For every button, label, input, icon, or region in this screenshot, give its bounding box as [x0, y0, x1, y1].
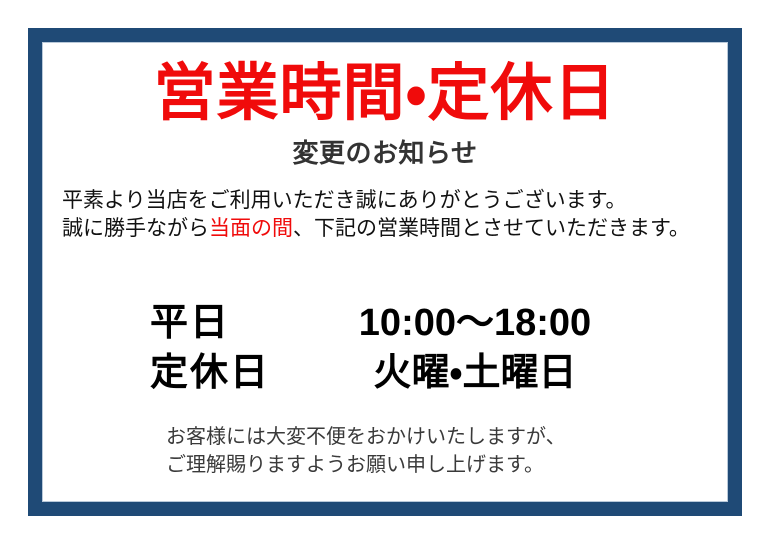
- hours-label-closed-days: 定休日: [150, 348, 330, 398]
- hours-value-closed-days: 火曜・土曜日: [330, 348, 620, 398]
- intro-emphasis-red: 当面の間: [209, 217, 293, 240]
- intro-line-1: 平素より当店をご利用いただき誠にありがとうございます。: [62, 187, 717, 215]
- hours-label-weekday: 平日: [150, 298, 330, 348]
- intro-line-2-before: 誠に勝手ながら: [62, 217, 209, 240]
- poster-inner-panel: 営業時間・定休日 変更のお知らせ 平素より当店をご利用いただき誠にありがとうござ…: [42, 42, 728, 502]
- hours-row-weekday: 平日 10:00〜18:00: [150, 298, 620, 348]
- business-hours-table: 平日 10:00〜18:00 定休日 火曜・土曜日: [150, 298, 620, 398]
- poster-frame-border: 営業時間・定休日 変更のお知らせ 平素より当店をご利用いただき誠にありがとうござ…: [28, 28, 742, 516]
- poster-content: 営業時間・定休日 変更のお知らせ 平素より当店をご利用いただき誠にありがとうござ…: [43, 43, 727, 501]
- intro-line-2-after: 、下記の営業時間とさせていただきます。: [293, 217, 690, 240]
- closing-line-2: ご理解賜りますようお願い申し上げます。: [166, 451, 566, 479]
- notice-poster: 営業時間・定休日 変更のお知らせ 平素より当店をご利用いただき誠にありがとうござ…: [0, 0, 770, 543]
- hours-row-closed-days: 定休日 火曜・土曜日: [150, 348, 620, 398]
- intro-line-2: 誠に勝手ながら当面の間、下記の営業時間とさせていただきます。: [62, 215, 717, 243]
- poster-headline: 営業時間・定休日: [43, 63, 727, 125]
- closing-paragraph: お客様には大変不便をおかけいたしますが、 ご理解賜りますようお願い申し上げます。: [166, 423, 566, 479]
- poster-subheadline: 変更のお知らせ: [43, 140, 727, 166]
- closing-line-1: お客様には大変不便をおかけいたしますが、: [166, 423, 566, 451]
- intro-paragraph: 平素より当店をご利用いただき誠にありがとうございます。 誠に勝手ながら当面の間、…: [62, 187, 717, 243]
- hours-value-weekday: 10:00〜18:00: [330, 298, 620, 348]
